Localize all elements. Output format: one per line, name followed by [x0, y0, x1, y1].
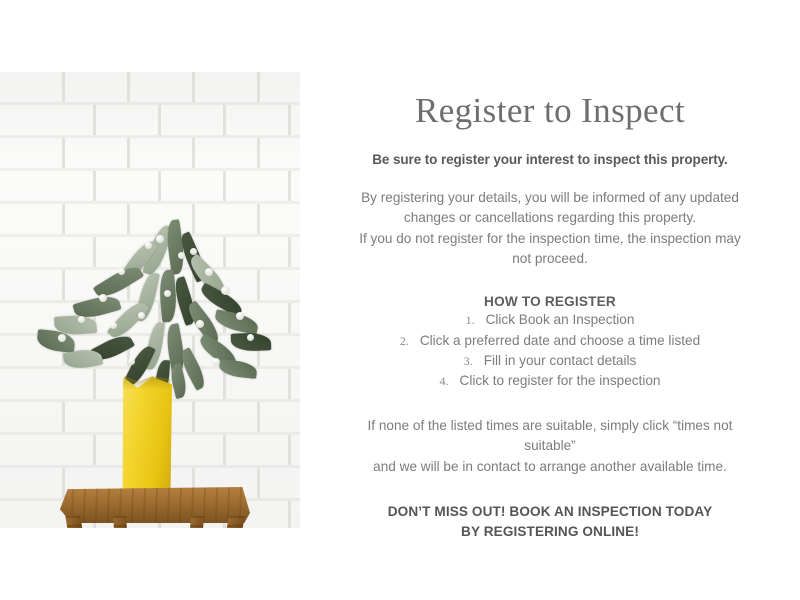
alternative-line-1: If none of the listed times are suitable…	[310, 416, 790, 437]
step-text: Click to register for the inspection	[460, 373, 661, 388]
intro-paragraph: By registering your details, you will be…	[310, 188, 790, 271]
inspection-poster: Register to Inspect Be sure to register …	[0, 0, 800, 600]
step-number: 4.	[440, 374, 449, 388]
step-text: Fill in your contact details	[484, 353, 637, 368]
subtitle: Be sure to register your interest to ins…	[310, 152, 790, 167]
page-title: Register to Inspect	[310, 92, 790, 131]
step-text: Click Book an Inspection	[486, 312, 635, 327]
registration-steps-list: 1.Click Book an Inspection 2.Click a pre…	[310, 310, 790, 392]
yellow-vase	[120, 377, 172, 499]
how-to-register-heading: HOW TO REGISTER	[310, 294, 790, 309]
alternative-line-2: suitable”	[310, 436, 790, 457]
stool-seat	[60, 487, 250, 523]
list-item: 2.Click a preferred date and choose a ti…	[310, 331, 790, 351]
call-to-action: DON’T MISS OUT! BOOK AN INSPECTION TODAY…	[310, 502, 790, 543]
step-number: 2.	[400, 334, 409, 348]
poster-text-panel: Register to Inspect Be sure to register …	[310, 80, 790, 542]
intro-line-4: not proceed.	[310, 249, 790, 270]
alternative-times-paragraph: If none of the listed times are suitable…	[310, 416, 790, 478]
step-text: Click a preferred date and choose a time…	[420, 333, 700, 348]
cta-line-1: DON’T MISS OUT! BOOK AN INSPECTION TODAY	[310, 502, 790, 522]
intro-line-1: By registering your details, you will be…	[310, 188, 790, 209]
list-item: 3.Fill in your contact details	[310, 351, 790, 371]
cta-line-2: BY REGISTERING ONLINE!	[310, 522, 790, 542]
intro-line-3: If you do not register for the inspectio…	[310, 229, 790, 250]
alternative-line-3: and we will be in contact to arrange ano…	[310, 457, 790, 478]
property-photo	[0, 72, 300, 528]
intro-line-2: changes or cancellations regarding this …	[310, 208, 790, 229]
list-item: 4.Click to register for the inspection	[310, 371, 790, 391]
step-number: 3.	[464, 354, 473, 368]
step-number: 1.	[466, 313, 475, 327]
list-item: 1.Click Book an Inspection	[310, 310, 790, 330]
